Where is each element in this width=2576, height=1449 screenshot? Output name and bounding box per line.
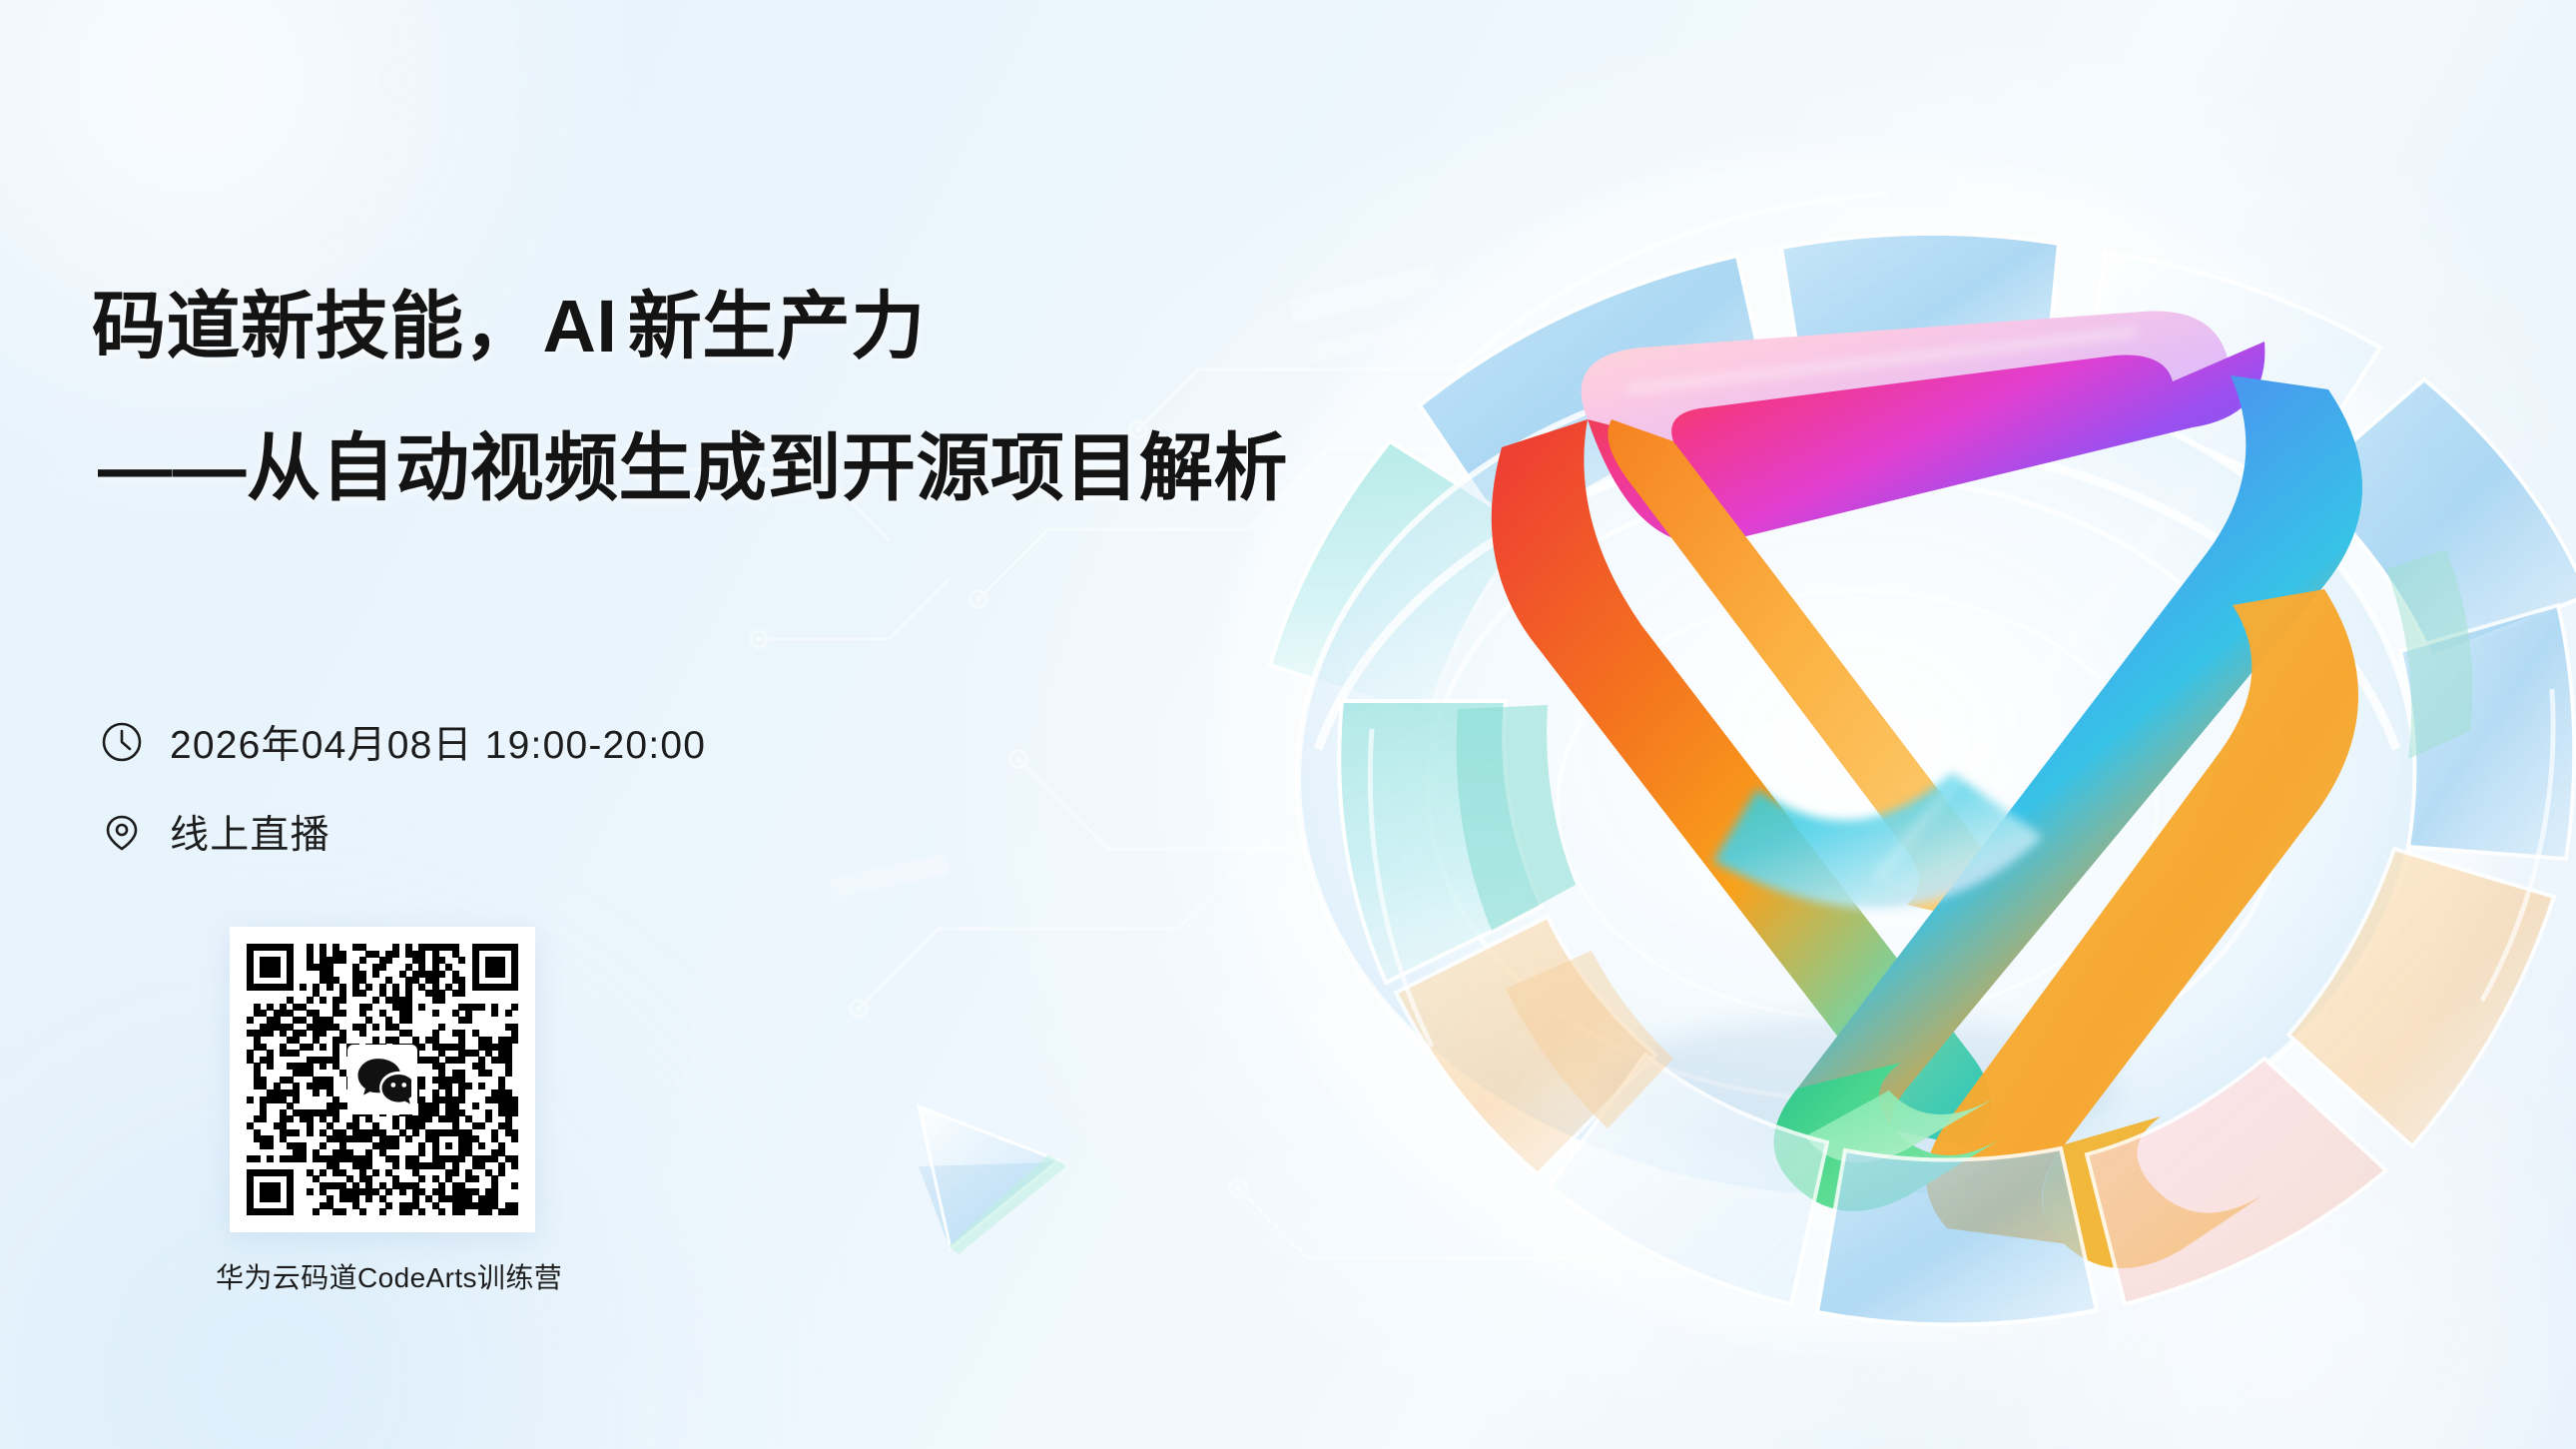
ring-front-blades	[1339, 549, 2574, 1325]
content-column: 码道新技能，AI新生产力 ——从自动视频生成到开源项目解析 2026年04月08…	[92, 0, 1270, 1449]
page-subtitle: ——从自动视频生成到开源项目解析	[98, 431, 1288, 505]
page-title: 码道新技能，AI新生产力	[92, 290, 926, 363]
clock-icon	[100, 720, 144, 764]
wechat-bubble-icon	[347, 1045, 417, 1114]
promotional-banner: 码道新技能，AI新生产力 ——从自动视频生成到开源项目解析 2026年04月08…	[0, 0, 2576, 1449]
artwork-stage	[1158, 90, 2576, 1388]
headline-part-cn: 码道新技能，	[92, 285, 538, 367]
map-pin-icon	[100, 810, 144, 854]
codearts-3d-emblem	[1158, 90, 2576, 1388]
event-location-text: 线上直播	[170, 804, 330, 860]
event-location-row: 线上直播	[100, 804, 330, 860]
qr-code-caption: 华为云码道CodeArts训练营	[216, 1256, 521, 1296]
rainbow-ribbon	[1492, 312, 2362, 1269]
event-time-row: 2026年04月08日 19:00-20:00	[100, 714, 706, 770]
headline-part-ai: AI	[538, 285, 628, 367]
event-time-text: 2026年04月08日 19:00-20:00	[170, 714, 706, 770]
qr-code-card[interactable]	[230, 927, 535, 1232]
headline-part-tail: 新生产力	[628, 285, 926, 367]
ring-back-blades	[1270, 234, 2576, 717]
qr-code-block: 华为云码道CodeArts训练营	[230, 927, 535, 1296]
corner-glow-bottom-right	[1837, 970, 2576, 1449]
glass-dish	[1298, 360, 2416, 1198]
